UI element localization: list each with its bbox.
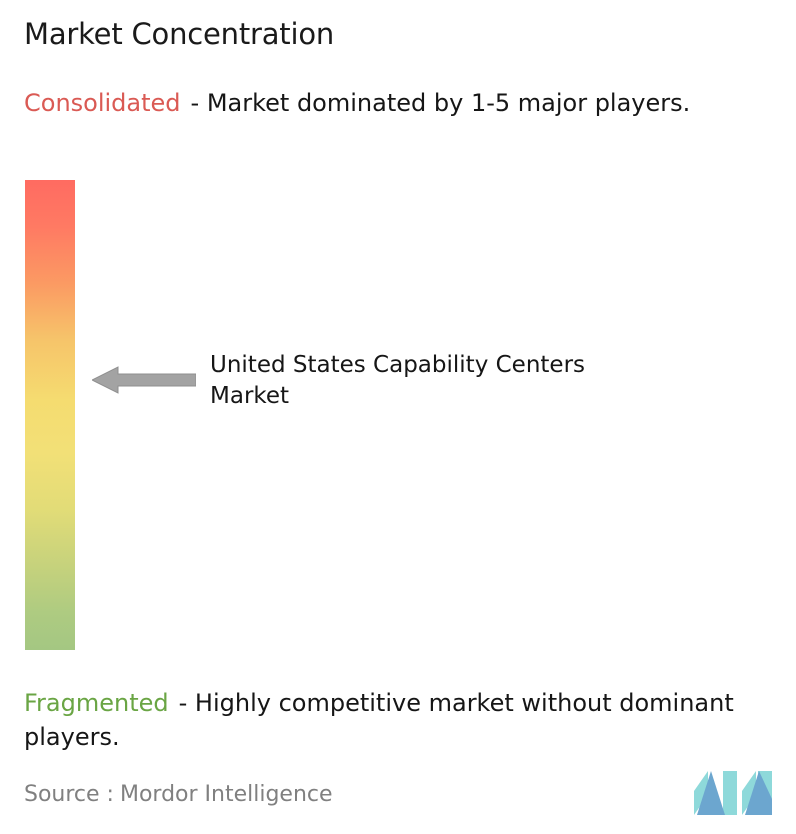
legend-term-fragmented: Fragmented	[24, 689, 169, 717]
page-title: Market Concentration	[24, 18, 334, 51]
legend-consolidated: Consolidated- Market dominated by 1-5 ma…	[24, 86, 774, 120]
source-value: Mordor Intelligence	[120, 782, 333, 807]
left-arrow-icon	[92, 366, 196, 394]
source-attribution: Source :Mordor Intelligence	[24, 782, 333, 807]
legend-fragmented: Fragmented- Highly competitive market wi…	[24, 686, 784, 754]
source-label: Source :	[24, 782, 114, 807]
market-name-label: United States Capability Centers Market	[210, 350, 630, 412]
concentration-gradient-bar	[25, 180, 75, 650]
legend-description-consolidated: - Market dominated by 1-5 major players.	[191, 89, 691, 117]
mordor-intelligence-logo	[694, 769, 772, 817]
legend-term-consolidated: Consolidated	[24, 89, 181, 117]
